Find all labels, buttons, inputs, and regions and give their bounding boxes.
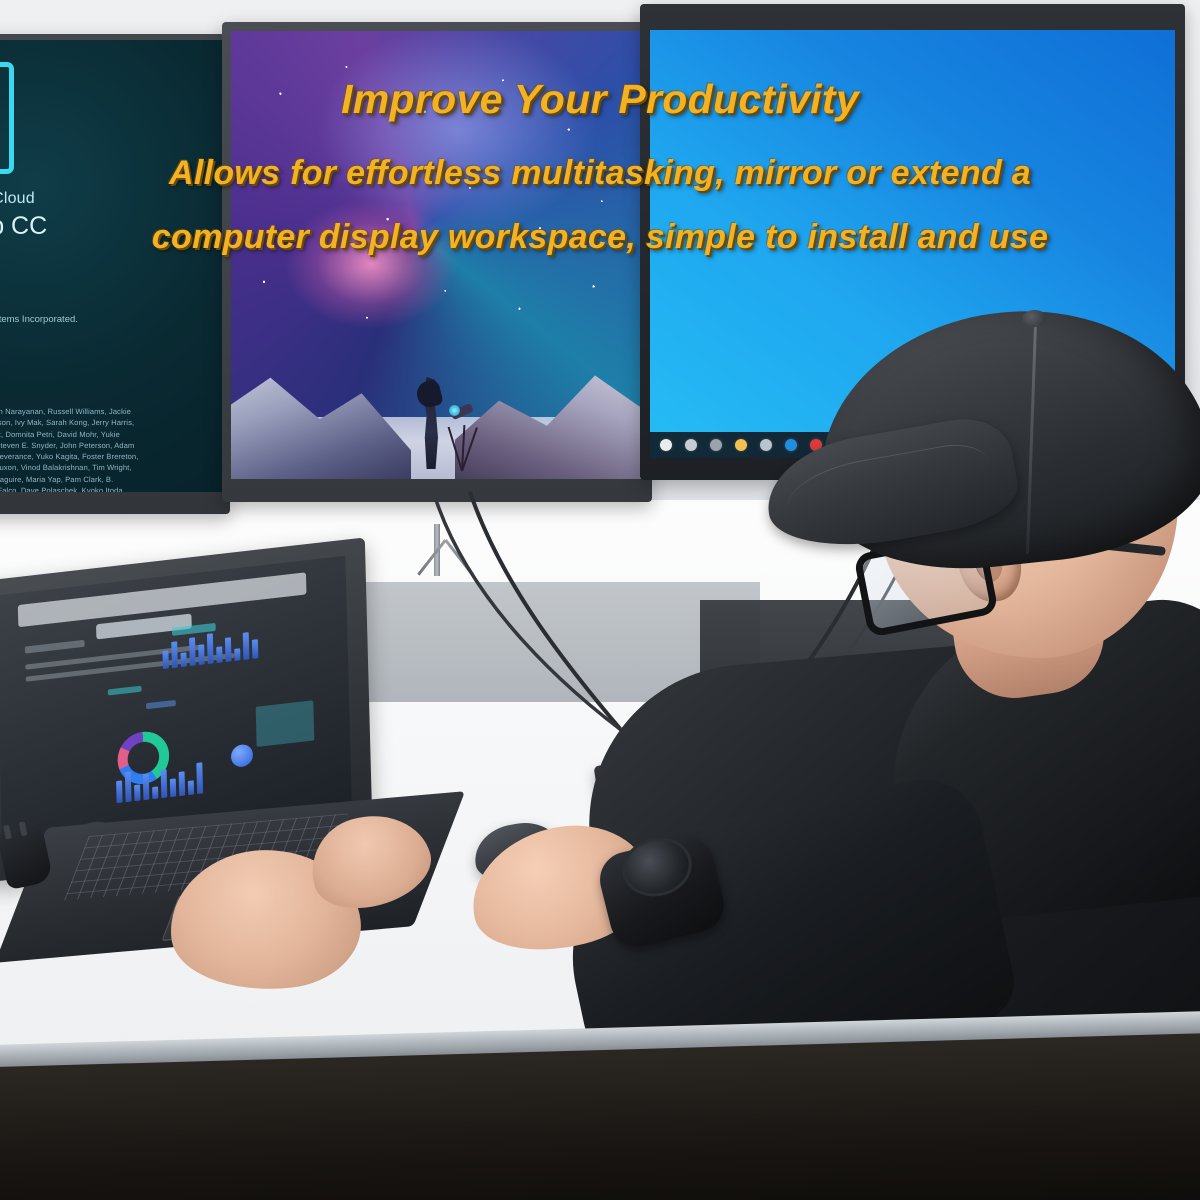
promo-subline-1: Allows for effortless multitasking, mirr…	[0, 154, 1200, 193]
dashboard-accent-label	[146, 700, 176, 709]
promo-subline-2: computer display workspace, simple to in…	[0, 218, 1200, 257]
dashboard-accent-label	[108, 686, 142, 696]
dashboard-label	[25, 640, 85, 654]
photoshop-copyright: , Adobe Systems Incorporated. erved.	[0, 314, 78, 338]
product-marketing-image: reative Cloud oshop CC , Adobe Systems I…	[0, 0, 1200, 1200]
photoshop-credits-list: l, Seetharaman Narayanan, Russell Willia…	[0, 406, 224, 492]
promo-headline: Improve Your Productivity	[0, 76, 1200, 123]
telescope-tripod-icon	[445, 405, 479, 471]
dashboard-panel	[256, 700, 315, 747]
marketing-copy-overlay: Improve Your Productivity Allows for eff…	[0, 0, 1200, 300]
status-dot	[231, 743, 253, 768]
